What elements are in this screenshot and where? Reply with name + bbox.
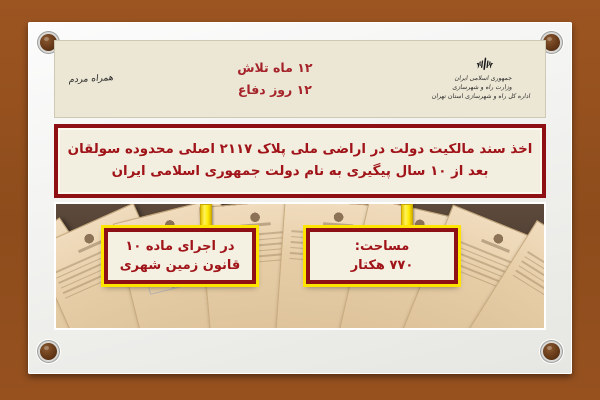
letterhead: جمهوری اسلامی ایران وزارت راه و شهرسازی … — [54, 40, 546, 118]
article-callout-line-1: در اجرای ماده ۱۰ — [125, 237, 234, 257]
bolt-bottom-right-icon — [543, 343, 560, 360]
area-callout: مساحت: ۷۷۰ هکتار — [306, 228, 458, 284]
headline-box: اخذ سند مالکیت دولت در اراضی ملی پلاک ۲۱… — [54, 124, 546, 198]
slogan-block: ۱۲ ماه تلاش ۱۲ روز دفاع — [237, 57, 312, 101]
article-callout-line-2: قانون زمین شهری — [120, 256, 240, 276]
bolt-bottom-left-icon — [40, 343, 57, 360]
headline-line-1: اخذ سند مالکیت دولت در اراضی ملی پلاک ۲۱… — [68, 139, 533, 161]
poster-root: جمهوری اسلامی ایران وزارت راه و شهرسازی … — [0, 0, 600, 400]
iran-emblem-icon — [473, 56, 497, 73]
mounting-board: جمهوری اسلامی ایران وزارت راه و شهرسازی … — [28, 22, 572, 374]
organization-block: جمهوری اسلامی ایران وزارت راه و شهرسازی … — [426, 56, 536, 101]
deeds-photo: در اجرای ماده ۱۰ قانون زمین شهری مساحت: … — [54, 202, 546, 330]
area-callout-line-2: ۷۷۰ هکتار — [351, 256, 414, 276]
org-line-2: وزارت راه و شهرسازی — [433, 84, 533, 93]
content-well: جمهوری اسلامی ایران وزارت راه و شهرسازی … — [54, 40, 546, 332]
headline-line-2: بعد از ۱۰ سال پیگیری به نام دولت جمهوری … — [112, 161, 489, 183]
org-line-3: اداره کل راه و شهرسازی استان تهران — [432, 93, 532, 102]
area-callout-line-1: مساحت: — [355, 237, 410, 257]
slogan-line-2: ۱۲ روز دفاع — [237, 79, 312, 101]
slogan-line-1: ۱۲ ماه تلاش — [237, 57, 312, 79]
article-callout: در اجرای ماده ۱۰ قانون زمین شهری — [104, 228, 256, 284]
org-line-1: جمهوری اسلامی ایران — [434, 75, 534, 84]
motto-text: همراه مردم — [68, 73, 122, 86]
